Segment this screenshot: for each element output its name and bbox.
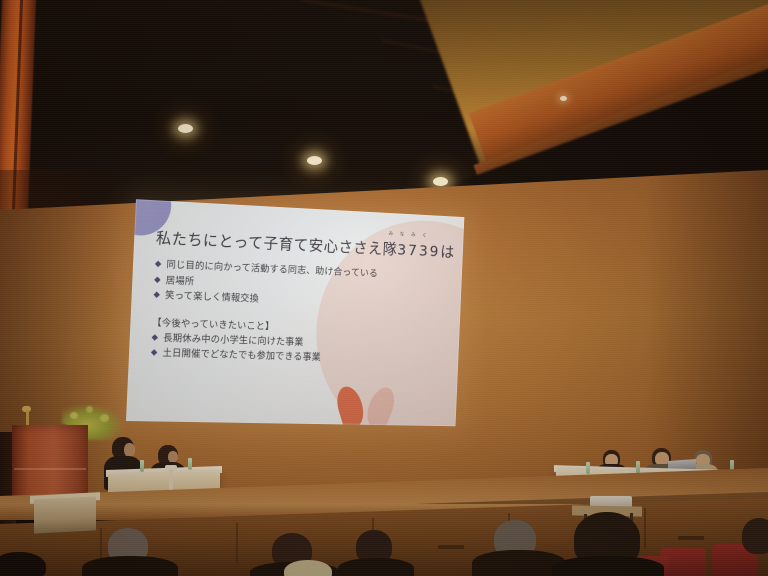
audience-head	[742, 518, 768, 554]
slide-title-number: 3739	[397, 241, 441, 260]
audience-shoulders	[82, 556, 178, 576]
slide-title-ruby: みなみく	[388, 230, 433, 239]
water-bottle	[636, 461, 640, 473]
bullet-diamond-icon: ◆	[153, 288, 160, 303]
slide-title-main: 私たちにとって子育て安心ささえ隊	[156, 229, 398, 258]
water-bottle	[140, 460, 144, 472]
audience-shoulders	[552, 556, 664, 576]
water-bottle	[188, 458, 192, 470]
auditorium-scene: 私たちにとって子育て安心ささえ隊3739は みなみく ◆ 同じ目的に向かって活動…	[0, 0, 768, 576]
flower-bloom	[70, 412, 78, 419]
bullet-diamond-icon: ◆	[150, 346, 157, 361]
ceiling-spotlight-icon	[560, 96, 567, 101]
audience-shoulders	[338, 558, 414, 576]
slide-title: 私たちにとって子育て安心ささえ隊3739は みなみく	[156, 226, 450, 261]
list-item-label: 居場所	[165, 273, 194, 290]
lectern-trim	[14, 468, 86, 470]
stage-panel-seam	[644, 508, 646, 548]
water-bottle	[586, 462, 590, 474]
flower-bloom	[100, 414, 109, 422]
ceiling-spotlight-icon	[178, 124, 193, 133]
wooden-crate	[34, 496, 96, 533]
list-item-label: 笑って楽しく情報交換	[165, 288, 260, 307]
bullet-diamond-icon: ◆	[151, 330, 158, 345]
stage-panel-seam	[236, 523, 238, 563]
audience-head	[284, 560, 332, 576]
stage-vent	[438, 545, 464, 549]
projection-screen: 私たちにとって子育て安心ささえ隊3739は みなみく ◆ 同じ目的に向かって活動…	[126, 199, 464, 426]
slide-content: 私たちにとって子育て安心ささえ隊3739は みなみく ◆ 同じ目的に向かって活動…	[129, 199, 465, 369]
person-face	[124, 443, 135, 457]
slide-bullet-list: ◆ 同じ目的に向かって活動する同志、助け合っている ◆ 居場所 ◆ 笑って楽しく…	[153, 257, 448, 314]
slide-title-suffix: は	[440, 243, 455, 261]
flower-bloom	[86, 406, 93, 413]
presentation-slide: 私たちにとって子育て安心ささえ隊3739は みなみく ◆ 同じ目的に向かって活動…	[126, 199, 464, 426]
bullet-diamond-icon: ◆	[154, 257, 161, 272]
stage-vent	[678, 536, 704, 540]
bullet-diamond-icon: ◆	[154, 272, 161, 287]
ceiling-spotlight-icon	[307, 156, 322, 165]
